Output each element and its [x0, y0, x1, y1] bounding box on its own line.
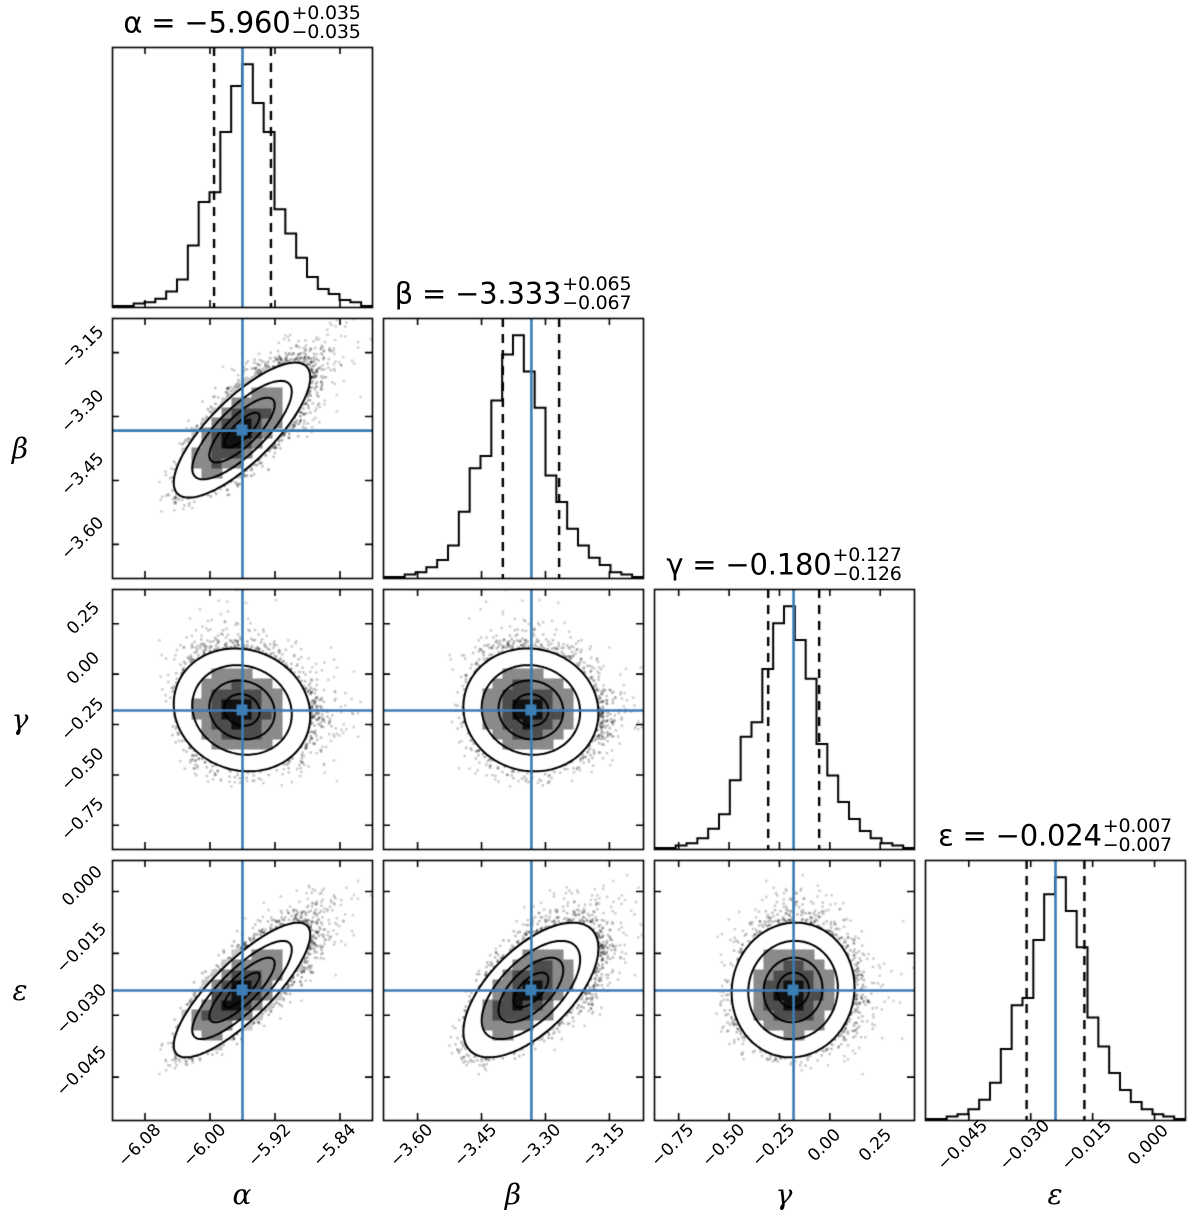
xaxis-label-beta: β	[505, 1178, 521, 1211]
corner-plot-figure: α = −5.960+0.035−0.035β = −3.333+0.065−0…	[0, 0, 1200, 1147]
xaxis-label-epsilon: ε	[1047, 1178, 1062, 1211]
corner-plot-canvas	[0, 0, 1200, 1147]
xaxis-label-alpha: α	[233, 1178, 252, 1211]
xaxis-label-gamma: γ	[776, 1178, 793, 1211]
